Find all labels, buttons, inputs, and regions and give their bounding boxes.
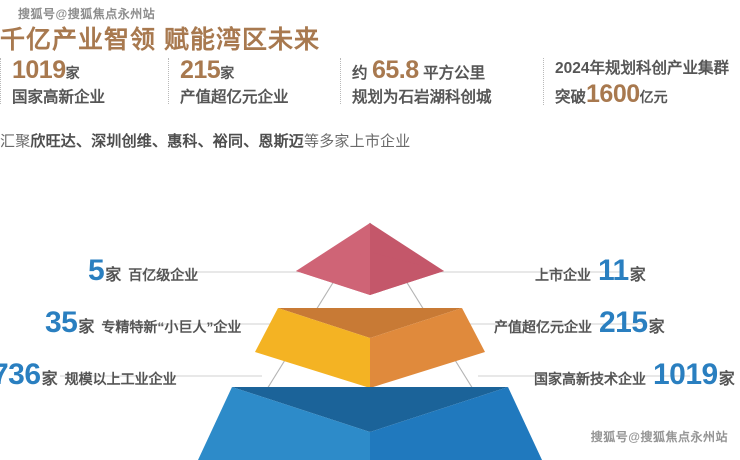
stat-caption-3: 2024年规划科创产业集群 bbox=[555, 58, 740, 77]
stat-value-0: 1019家 bbox=[12, 58, 168, 83]
page-title: 千亿产业智领 赋能湾区未来 bbox=[0, 20, 320, 56]
watermark-bottom: 搜狐号@搜狐焦点永州站 bbox=[591, 428, 728, 445]
companies-lead: 汇聚 bbox=[0, 133, 30, 150]
label-unit-r2: 家 bbox=[649, 320, 665, 336]
stat-item-0: 1019家 国家高新企业 bbox=[0, 58, 168, 106]
stat-value-3: 突破1600亿元 bbox=[555, 82, 740, 107]
stat-suffix-2: 平方公里 bbox=[423, 65, 485, 82]
stat-value-2: 约 65.8 平方公里 bbox=[352, 58, 543, 83]
label-unit-l3: 家 bbox=[42, 372, 58, 388]
stat-value-1: 215家 bbox=[180, 58, 340, 83]
label-number-r2: 215 bbox=[599, 308, 648, 338]
stats-row: 1019家 国家高新企业 215家 产值超亿元企业 约 65.8 平方公里 规划… bbox=[0, 58, 740, 114]
stat-number-1: 215 bbox=[180, 56, 220, 84]
label-desc-r2: 产值超亿元企业 bbox=[494, 320, 592, 334]
label-unit-l1: 家 bbox=[105, 268, 121, 284]
stat-caption-1: 产值超亿元企业 bbox=[180, 90, 340, 106]
pyramid-label-left-3[interactable]: 736家规模以上工业企业 bbox=[0, 360, 184, 390]
stat-number-0: 1019 bbox=[12, 56, 66, 84]
label-number-l1: 5 bbox=[88, 256, 104, 286]
label-desc-l3: 规模以上工业企业 bbox=[65, 372, 177, 386]
stat-number-3: 1600 bbox=[586, 80, 640, 108]
stat-caption-0: 国家高新企业 bbox=[12, 90, 168, 106]
label-desc-l2: 专精特新“小巨人”企业 bbox=[101, 320, 241, 334]
pyramid-tier-2[interactable] bbox=[255, 308, 485, 388]
label-desc-r1: 上市企业 bbox=[535, 268, 591, 282]
pyramid-label-left-2[interactable]: 35家专精特新“小巨人”企业 bbox=[45, 308, 248, 338]
label-unit-r3: 家 bbox=[719, 372, 735, 388]
label-unit-r1: 家 bbox=[630, 268, 646, 284]
stat-unit-1: 家 bbox=[220, 65, 234, 81]
pyramid-label-right-2[interactable]: 产值超亿元企业215家 bbox=[487, 308, 665, 338]
pyramid-tier-1[interactable] bbox=[296, 223, 444, 295]
companies-names: 欣旺达、深圳创维、惠科、裕同、恩斯迈 bbox=[30, 133, 304, 150]
stat-unit-0: 家 bbox=[66, 65, 80, 81]
label-number-r3: 1019 bbox=[653, 360, 718, 390]
label-number-l2: 35 bbox=[45, 308, 77, 338]
stat-prefix-2: 约 bbox=[352, 65, 368, 82]
pyramid-label-right-3[interactable]: 国家高新技术企业1019家 bbox=[527, 360, 735, 390]
label-number-r1: 11 bbox=[598, 256, 629, 286]
stat-caption-2: 规划为石岩湖科创城 bbox=[352, 90, 543, 106]
stat-item-1: 215家 产值超亿元企业 bbox=[168, 58, 340, 106]
pyramid-label-left-1[interactable]: 5家百亿级企业 bbox=[88, 256, 205, 286]
stat-item-2: 约 65.8 平方公里 规划为石岩湖科创城 bbox=[340, 58, 543, 106]
companies-tail: 等多家上市企业 bbox=[304, 133, 410, 150]
stat-prefix-3: 突破 bbox=[555, 89, 586, 106]
stat-item-3: 2024年规划科创产业集群 突破1600亿元 bbox=[543, 58, 740, 107]
stat-number-2: 65.8 bbox=[372, 56, 419, 84]
pyramid-label-right-1[interactable]: 上市企业11家 bbox=[528, 256, 646, 286]
label-number-l3: 736 bbox=[0, 360, 41, 390]
stat-suffix-3: 亿元 bbox=[640, 89, 668, 105]
pyramid-tier-3[interactable] bbox=[198, 387, 542, 460]
label-unit-l2: 家 bbox=[78, 320, 94, 336]
label-desc-l1: 百亿级企业 bbox=[128, 268, 198, 282]
companies-line: 汇聚欣旺达、深圳创维、惠科、裕同、恩斯迈等多家上市企业 bbox=[0, 130, 410, 151]
label-desc-r3: 国家高新技术企业 bbox=[534, 372, 646, 386]
